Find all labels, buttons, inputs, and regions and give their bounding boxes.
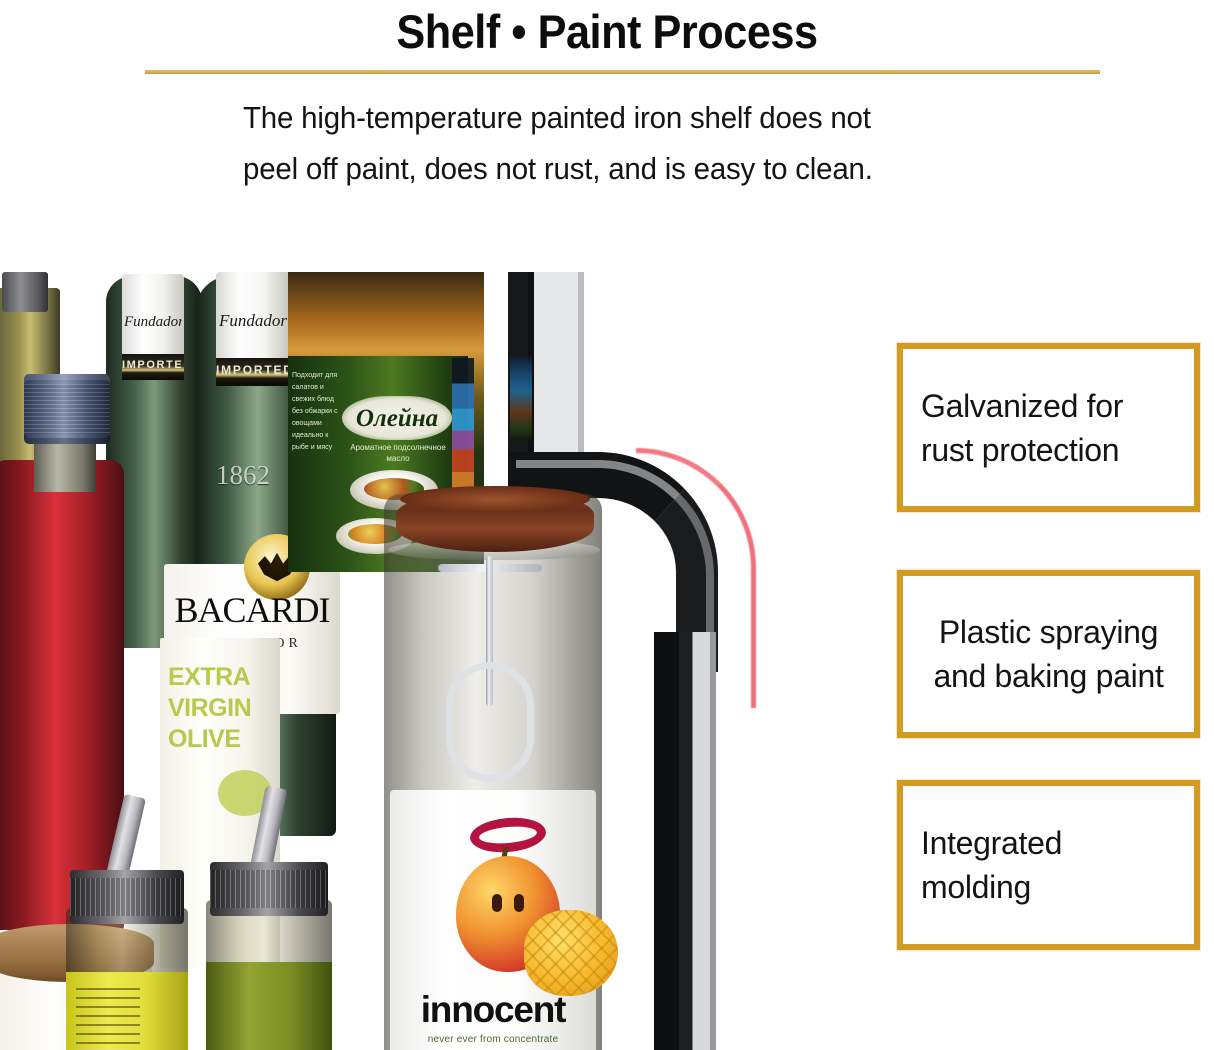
mango-icon: [524, 910, 618, 996]
olive-oil-carton-text: EXTRA VIRGIN OLIVE OIL: [168, 662, 272, 758]
subtitle-line-2: peel off paint, does not rust, and is ea…: [243, 143, 984, 194]
innocent-jar-clamp-loop: [446, 662, 534, 782]
callout-label-2: Plastic spraying and baking paint: [903, 610, 1194, 698]
callout-box-plastic-spraying: Plastic spraying and baking paint: [897, 570, 1200, 738]
callout-label-3: Integrated molding: [903, 821, 1194, 909]
innocent-brand-text: innocent: [392, 988, 594, 1032]
oleina-brand-text: Олейна: [342, 402, 452, 436]
subtitle-text: The high-temperature painted iron shelf …: [243, 92, 984, 194]
green-bottle-1-script-label: Fundador: [124, 308, 182, 336]
subtitle-line-1: The high-temperature painted iron shelf …: [243, 92, 984, 143]
page-title: Shelf • Paint Process: [49, 2, 1166, 62]
shelf-right-leg: [654, 632, 716, 1050]
title-divider-rule: [145, 70, 1100, 74]
oil-dispenser-dark-collar-ridges: [210, 870, 328, 908]
green-bottle-2-script-label: Fundador: [218, 306, 288, 336]
callout-label-1: Galvanized for rust protection: [903, 384, 1194, 472]
oleina-bullet-text: Подходит для салатов и свежих блюд без о…: [292, 370, 340, 520]
oil-dispenser-yellow-collar-ridges: [70, 878, 184, 916]
bottle-olive-oil-back-cap: [2, 272, 48, 312]
green-bottle-2-brand-text: BACARDI: [166, 588, 338, 632]
green-bottle-1-imported-text: IMPORTED: [122, 356, 184, 374]
callout-box-integrated-molding: Integrated molding: [897, 780, 1200, 950]
red-liquid-bottle: [0, 460, 124, 930]
apple-eye-right-icon: [514, 894, 524, 912]
callout-box-galvanized: Galvanized for rust protection: [897, 343, 1200, 512]
oleina-tagline-text: Ароматное подсолнечное масло: [342, 442, 454, 466]
apple-eye-left-icon: [492, 894, 502, 912]
oil-dispenser-dark-label: [206, 962, 332, 1050]
innocent-jar-lid-top: [400, 486, 590, 512]
red-bottle-cap-ridges: [24, 384, 110, 434]
product-photo: Fundador IMPORTED Fundador IMPORTED 1862…: [0, 272, 762, 1050]
shelf-post-reflection: [510, 356, 532, 440]
oil-dispenser-yellow-label-lines: [76, 988, 140, 1050]
green-bottle-2-imported-text: IMPORTED: [216, 360, 290, 380]
innocent-tagline-text: never ever from concentrate: [392, 1032, 594, 1048]
